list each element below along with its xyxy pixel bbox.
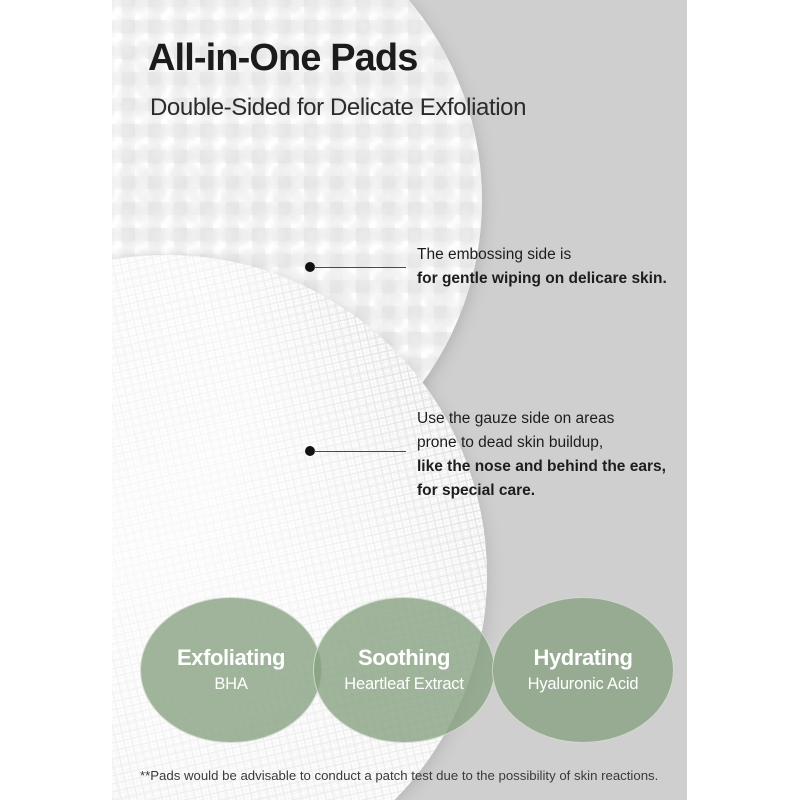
product-detail-image: Exfoliating BHA Soothing Heartleaf Extra… xyxy=(0,0,800,800)
page-margin-left xyxy=(0,0,112,800)
page-subtitle: Double-Sided for Delicate Exfoliation xyxy=(150,94,526,122)
callout-line: The embossing side is xyxy=(417,243,667,267)
page-margin-right xyxy=(687,0,800,800)
callout-leader-line xyxy=(314,451,406,452)
benefit-ingredient: BHA xyxy=(214,675,247,694)
callout-text: Use the gauze side on areas prone to dea… xyxy=(417,407,666,503)
callout-text: The embossing side is for gentle wiping … xyxy=(417,243,667,291)
callout-line: for special care. xyxy=(417,479,666,503)
benefit-ingredient: Heartleaf Extract xyxy=(344,675,463,694)
benefit-circle-exfoliating: Exfoliating BHA xyxy=(140,597,322,743)
benefit-title: Exfoliating xyxy=(177,646,285,669)
callout-line: for gentle wiping on delicare skin. xyxy=(417,267,667,291)
page-title: All-in-One Pads xyxy=(148,37,417,80)
callout-line: Use the gauze side on areas xyxy=(417,407,666,431)
callout-line: prone to dead skin buildup, xyxy=(417,431,666,455)
disclaimer-text: **Pads would be advisable to conduct a p… xyxy=(140,768,658,783)
benefit-circle-soothing: Soothing Heartleaf Extract xyxy=(313,597,495,743)
benefit-circle-hydrating: Hydrating Hyaluronic Acid xyxy=(492,597,674,743)
benefit-title: Hydrating xyxy=(533,646,632,669)
callout-leader-line xyxy=(314,267,406,268)
benefit-ingredient: Hyaluronic Acid xyxy=(528,675,639,694)
callout-line: like the nose and behind the ears, xyxy=(417,455,666,479)
benefit-title: Soothing xyxy=(358,646,450,669)
